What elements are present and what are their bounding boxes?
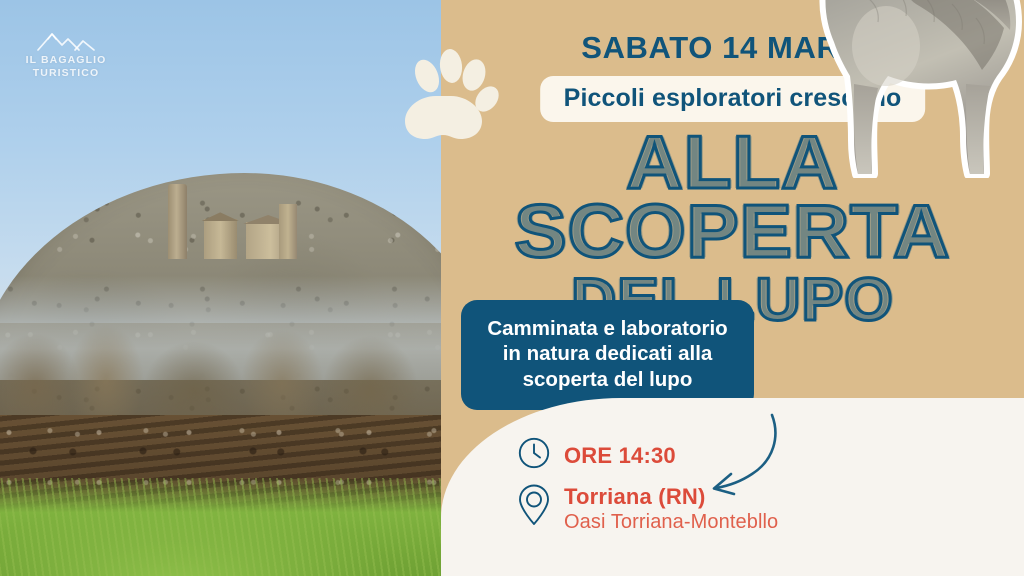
- main-title: ALLA SCOPERTA DEL LUPO: [441, 128, 1024, 327]
- castle-building-far: [279, 204, 297, 259]
- map-pin-icon: [517, 484, 551, 531]
- time-row: ORE 14:30: [517, 436, 676, 475]
- grass-blade-texture: [0, 478, 441, 576]
- description-box: Camminata e laboratorio in natura dedica…: [461, 300, 754, 410]
- description-text: Camminata e laboratorio in natura dedica…: [479, 316, 736, 392]
- subtitle-badge: Piccoli esploratori crescono: [540, 76, 926, 122]
- hilltop-castle-landscape-photo: IL BAGAGLIO TURISTICO: [0, 0, 441, 576]
- event-date: SABATO 14 MARZO: [441, 30, 1024, 66]
- castle-silhouette: [159, 184, 309, 259]
- location-row: Torriana (RN) Oasi Torriana-Montebllo: [517, 484, 778, 534]
- title-line-1: ALLA SCOPERTA: [429, 128, 1024, 266]
- location-name: Torriana (RN): [564, 484, 778, 510]
- grass-foreground-layer: [0, 478, 441, 576]
- subtitle-text: Piccoli esploratori crescono: [564, 84, 902, 112]
- location-subtitle: Oasi Torriana-Montebllo: [564, 511, 778, 534]
- clock-icon: [517, 436, 551, 475]
- event-time: ORE 14:30: [564, 443, 676, 469]
- poster-canvas: IL BAGAGLIO TURISTICO SABATO 14 MARZO Pi…: [0, 0, 1024, 576]
- content-column: SABATO 14 MARZO Piccoli esploratori cres…: [441, 0, 1024, 576]
- castle-building-left: [204, 219, 237, 259]
- details-panel: ORE 14:30 Torriana (RN) Oasi Torriana-Mo…: [441, 398, 1024, 576]
- stone-tower: [168, 184, 187, 259]
